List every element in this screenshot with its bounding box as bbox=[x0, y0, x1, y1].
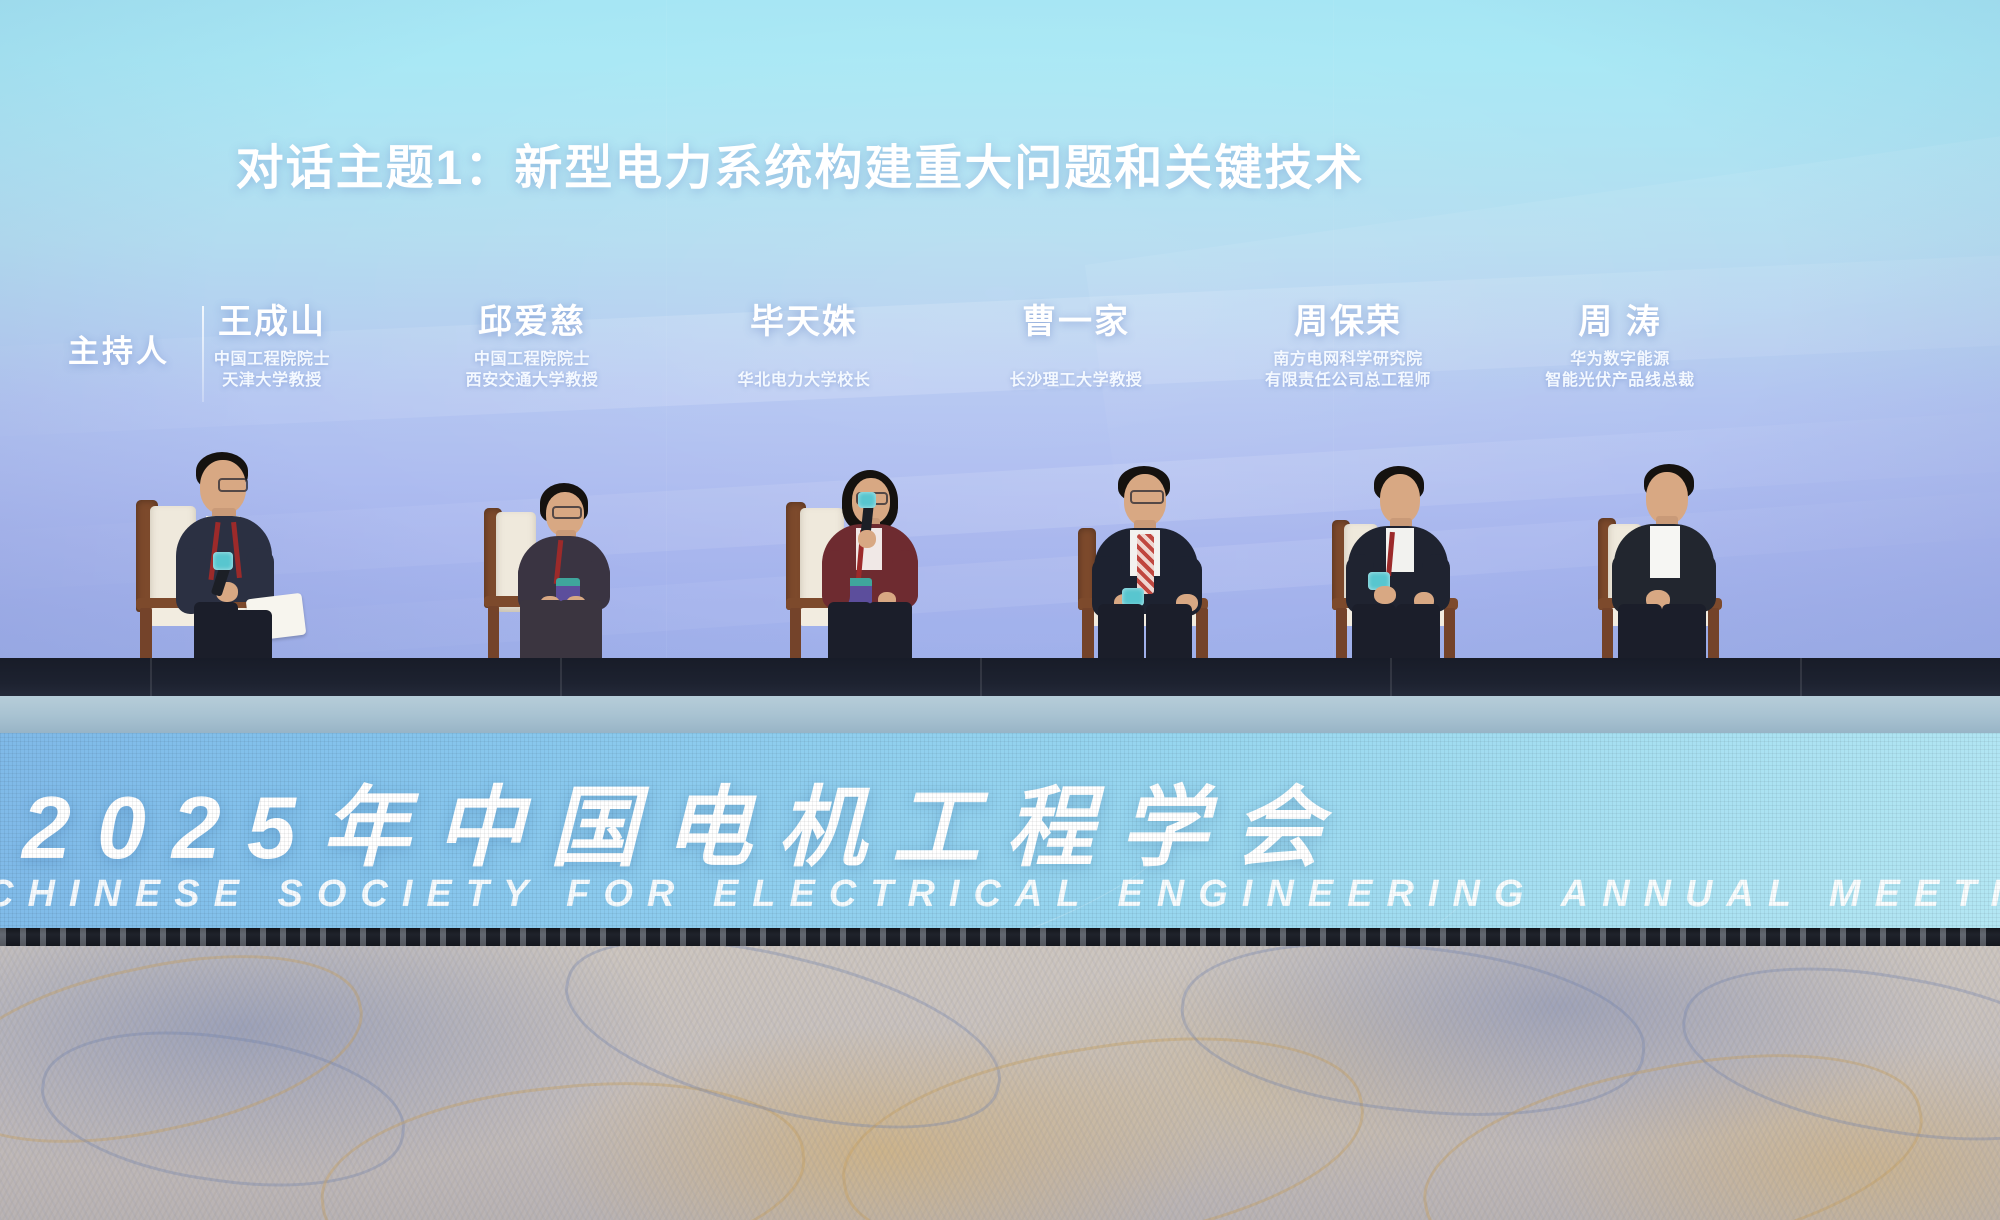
carpet-swirl bbox=[32, 1011, 415, 1207]
banner-wave-2 bbox=[0, 733, 1516, 928]
hand-left bbox=[858, 530, 876, 548]
speaker-title-line-2: 智能光伏产品线总裁 bbox=[1488, 370, 1752, 391]
speaker-card-5: 周保荣 南方电网科学研究院 有限责任公司总工程师 bbox=[1208, 300, 1488, 391]
speaker-name: 邱爱慈 bbox=[400, 300, 664, 344]
carpet-swirl bbox=[548, 946, 1018, 1164]
speaker-name: 周 涛 bbox=[1488, 300, 1752, 344]
speaker-title-line-1: 华为数字能源 bbox=[1488, 349, 1752, 370]
speaker-title-line-1: 南方电网科学研究院 bbox=[1208, 349, 1488, 370]
speaker-name: 周保荣 bbox=[1208, 300, 1488, 344]
session-headline: 对话主题1：新型电力系统构建重大问题和关键技术 bbox=[0, 128, 1600, 198]
stage-front-trim bbox=[0, 928, 2000, 946]
head bbox=[1380, 474, 1420, 524]
skirt-seam bbox=[980, 658, 982, 700]
necktie bbox=[1137, 534, 1154, 594]
skirt-seam bbox=[1390, 658, 1392, 700]
speaker-title-line-1: 中国工程院院士 bbox=[142, 349, 402, 370]
carpet-floor bbox=[0, 946, 2000, 1220]
skirt-seam bbox=[150, 658, 152, 700]
speaker-title-line-1: 华北电力大学校长 bbox=[672, 370, 936, 391]
glasses-icon bbox=[552, 506, 582, 519]
banner-wave-3 bbox=[93, 733, 2000, 928]
arm-left bbox=[822, 550, 850, 610]
carpet-swirl bbox=[0, 946, 379, 1174]
banner-chinese-title: 2025年中国电机工程学会 bbox=[22, 757, 2000, 884]
speaker-card-3: 毕天姝 华北电力大学校长 bbox=[672, 300, 936, 391]
carpet-swirl bbox=[1173, 946, 1654, 1136]
led-banner: 2025年中国电机工程学会 CHINESE SOCIETY FOR ELECTR… bbox=[0, 733, 2000, 928]
banner-wave-1 bbox=[0, 733, 1210, 928]
stage-riser-floor bbox=[0, 696, 2000, 738]
hand-left bbox=[1374, 586, 1396, 604]
speaker-title-line-2: 西安交通大学教授 bbox=[400, 370, 664, 391]
speaker-card-1: 王成山 中国工程院院士 天津大学教授 bbox=[142, 300, 402, 391]
speaker-title-line-1: 长沙理工大学教授 bbox=[944, 370, 1208, 391]
skirt-seam bbox=[560, 658, 562, 700]
carpet-swirl bbox=[312, 1061, 815, 1220]
speaker-name: 王成山 bbox=[142, 300, 402, 344]
speaker-roster: 主持人 王成山 中国工程院院士 天津大学教授 邱爱慈 中国工程院院士 西安交通大… bbox=[0, 300, 1760, 410]
speaker-title-line-2: 天津大学教授 bbox=[142, 370, 402, 391]
speaker-title-line-2: 有限责任公司总工程师 bbox=[1208, 370, 1488, 391]
stage-back-skirt bbox=[0, 658, 2000, 700]
speaker-card-6: 周 涛 华为数字能源 智能光伏产品线总裁 bbox=[1488, 300, 1752, 391]
carpet-swirl bbox=[1670, 946, 2000, 1168]
speaker-card-4: 曹一家 长沙理工大学教授 bbox=[944, 300, 1208, 391]
banner-english-title: CHINESE SOCIETY FOR ELECTRICAL ENGINEERI… bbox=[0, 873, 2000, 916]
microphone-head bbox=[213, 552, 233, 570]
shirt bbox=[1650, 526, 1680, 578]
speaker-title-line-1: 中国工程院院士 bbox=[400, 349, 664, 370]
carpet-swirl bbox=[828, 1006, 1378, 1220]
carpet-swirl bbox=[1407, 1019, 1939, 1220]
microphone-head bbox=[858, 492, 876, 508]
glasses-icon bbox=[1130, 490, 1164, 504]
arm-right bbox=[1688, 552, 1716, 612]
glasses-icon bbox=[218, 478, 248, 492]
speaker-name: 曹一家 bbox=[944, 300, 1208, 344]
skirt-seam bbox=[1800, 658, 1802, 700]
speaker-name: 毕天姝 bbox=[672, 300, 936, 344]
conference-stage-photo: 对话主题1：新型电力系统构建重大问题和关键技术 主持人 王成山 中国工程院院士 … bbox=[0, 0, 2000, 1220]
speaker-card-2: 邱爱慈 中国工程院院士 西安交通大学教授 bbox=[400, 300, 664, 391]
